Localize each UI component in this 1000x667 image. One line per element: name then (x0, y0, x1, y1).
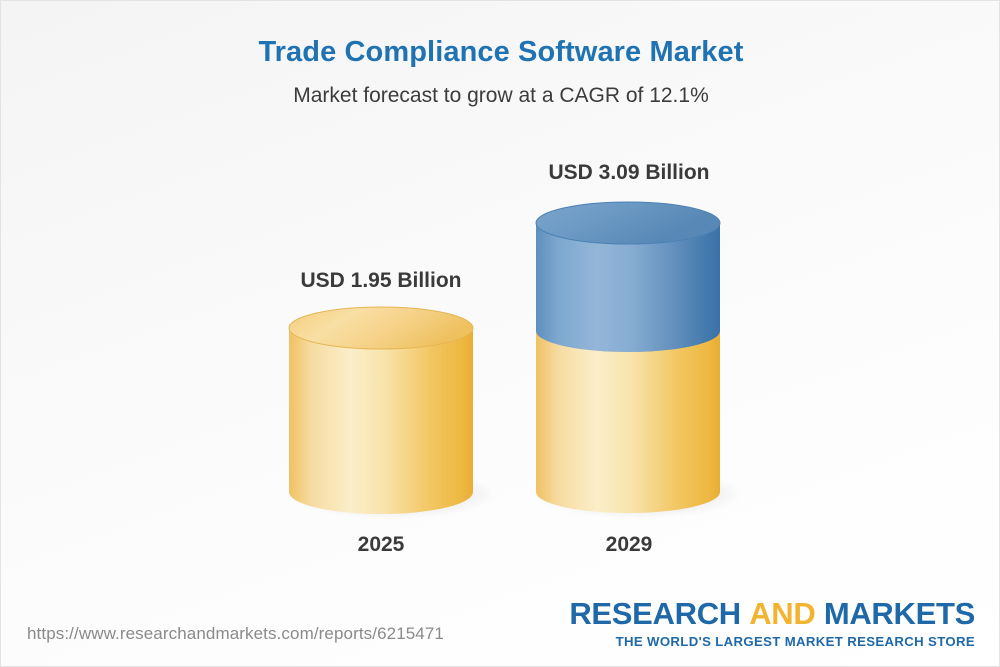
chart-canvas: Trade Compliance Software Market Market … (0, 0, 1000, 667)
logo-word-research: RESEARCH (569, 596, 741, 631)
logo-wordmark: RESEARCH AND MARKETS (569, 598, 975, 629)
logo-word-markets: MARKETS (824, 596, 975, 631)
logo-word-and: AND (749, 596, 815, 631)
bar-cylinder-2029[interactable] (534, 199, 724, 514)
logo-tagline: THE WORLD'S LARGEST MARKET RESEARCH STOR… (569, 635, 975, 648)
brand-logo[interactable]: RESEARCH AND MARKETS THE WORLD'S LARGEST… (569, 598, 975, 648)
bar-value-2025: USD 1.95 Billion (221, 269, 541, 293)
category-label-2029: 2029 (469, 533, 789, 557)
bar-cylinder-2025[interactable] (287, 306, 475, 514)
plot-area: USD 1.95 Billion USD 3.09 Billion 2025 2… (1, 1, 1000, 667)
bar-value-2029: USD 3.09 Billion (469, 161, 789, 185)
source-url[interactable]: https://www.researchandmarkets.com/repor… (27, 624, 444, 644)
